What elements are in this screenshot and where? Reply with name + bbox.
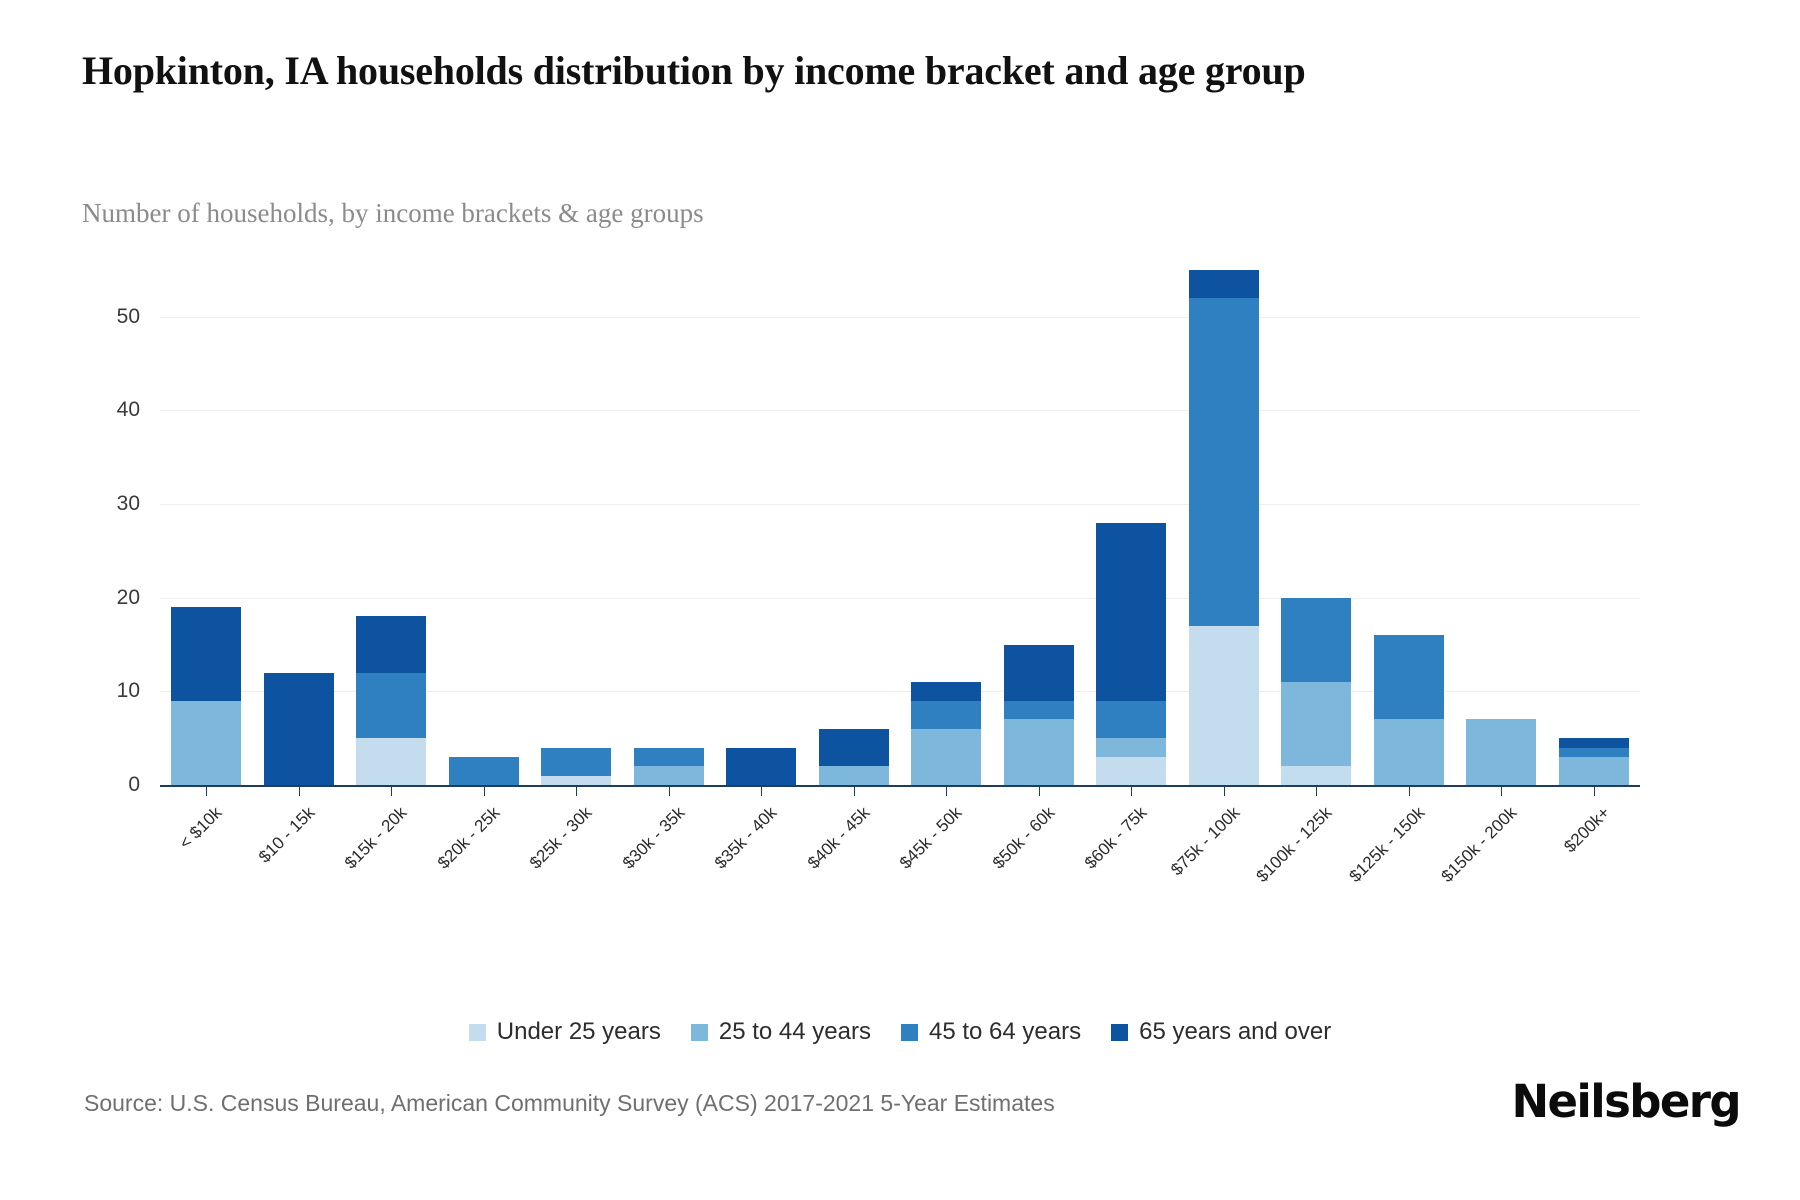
bar-segment[interactable] xyxy=(356,616,426,672)
x-tick-mark xyxy=(761,787,762,796)
x-tick-label: $25k - 30k xyxy=(526,803,596,873)
legend-item[interactable]: 45 to 64 years xyxy=(901,1018,1081,1046)
y-tick-label: 40 xyxy=(117,398,140,422)
bar-segment[interactable] xyxy=(449,757,519,785)
bar-segment[interactable] xyxy=(1374,635,1444,719)
legend-label: 25 to 44 years xyxy=(719,1018,871,1046)
x-axis-ticks xyxy=(160,787,1640,797)
bar-segment[interactable] xyxy=(264,673,334,785)
bar-segment[interactable] xyxy=(819,729,889,766)
bar-group[interactable] xyxy=(1466,270,1536,785)
bar-group[interactable] xyxy=(634,270,704,785)
bar-group[interactable] xyxy=(1096,270,1166,785)
bar-segment[interactable] xyxy=(541,748,611,776)
x-tick-label: $40k - 45k xyxy=(804,803,874,873)
y-tick-label: 20 xyxy=(117,586,140,610)
bar-group[interactable] xyxy=(911,270,981,785)
bar-group[interactable] xyxy=(1559,270,1629,785)
legend-label: Under 25 years xyxy=(497,1018,661,1046)
bar-segment[interactable] xyxy=(356,738,426,785)
bar-segment[interactable] xyxy=(1559,738,1629,747)
legend-item[interactable]: 65 years and over xyxy=(1111,1018,1331,1046)
bar-group[interactable] xyxy=(449,270,519,785)
bar-segment[interactable] xyxy=(1466,719,1536,785)
y-axis-labels: 01020304050 xyxy=(90,270,140,785)
bar-group[interactable] xyxy=(171,270,241,785)
y-tick-label: 10 xyxy=(117,679,140,703)
chart-legend: Under 25 years25 to 44 years45 to 64 yea… xyxy=(0,1018,1800,1046)
bar-segment[interactable] xyxy=(356,673,426,739)
x-tick-mark xyxy=(1316,787,1317,796)
bar-segment[interactable] xyxy=(911,729,981,785)
bar-group[interactable] xyxy=(1189,270,1259,785)
x-tick-label: < $10k xyxy=(176,803,227,854)
x-tick-label: $10 - 15k xyxy=(255,803,319,867)
bar-series-container xyxy=(160,270,1640,785)
bar-segment[interactable] xyxy=(171,701,241,785)
y-tick-label: 50 xyxy=(117,305,140,329)
plot-area xyxy=(160,270,1640,785)
x-tick-mark xyxy=(576,787,577,796)
bar-segment[interactable] xyxy=(1374,719,1444,785)
bar-segment[interactable] xyxy=(1189,270,1259,298)
x-tick-mark xyxy=(391,787,392,796)
bar-group[interactable] xyxy=(1281,270,1351,785)
bar-segment[interactable] xyxy=(1096,757,1166,785)
bar-segment[interactable] xyxy=(1004,645,1074,701)
page-title: Hopkinton, IA households distribution by… xyxy=(82,48,1642,94)
bar-segment[interactable] xyxy=(1559,757,1629,785)
bar-group[interactable] xyxy=(541,270,611,785)
legend-swatch-icon xyxy=(469,1024,486,1041)
legend-label: 45 to 64 years xyxy=(929,1018,1081,1046)
bar-segment[interactable] xyxy=(634,748,704,767)
bar-segment[interactable] xyxy=(1281,682,1351,766)
x-tick-label: $100k - 125k xyxy=(1253,803,1337,887)
bar-segment[interactable] xyxy=(1189,626,1259,785)
legend-swatch-icon xyxy=(1111,1024,1128,1041)
bar-segment[interactable] xyxy=(1281,598,1351,682)
x-tick-mark xyxy=(1501,787,1502,796)
x-tick-mark xyxy=(1224,787,1225,796)
bar-segment[interactable] xyxy=(1096,738,1166,757)
x-tick-mark xyxy=(669,787,670,796)
x-tick-mark xyxy=(1131,787,1132,796)
legend-label: 65 years and over xyxy=(1139,1018,1331,1046)
x-tick-label: $30k - 35k xyxy=(619,803,689,873)
bar-segment[interactable] xyxy=(1189,298,1259,626)
x-tick-label: $50k - 60k xyxy=(989,803,1059,873)
x-tick-label: $45k - 50k xyxy=(896,803,966,873)
bar-segment[interactable] xyxy=(1096,701,1166,738)
x-tick-mark xyxy=(1594,787,1595,796)
legend-swatch-icon xyxy=(901,1024,918,1041)
bar-group[interactable] xyxy=(1004,270,1074,785)
x-tick-label: $60k - 75k xyxy=(1081,803,1151,873)
bar-segment[interactable] xyxy=(1096,523,1166,701)
legend-swatch-icon xyxy=(691,1024,708,1041)
bar-segment[interactable] xyxy=(634,766,704,785)
bar-segment[interactable] xyxy=(541,776,611,785)
y-tick-label: 0 xyxy=(128,773,140,797)
bar-segment[interactable] xyxy=(726,748,796,785)
x-tick-label: $20k - 25k xyxy=(434,803,504,873)
x-tick-mark xyxy=(206,787,207,796)
bar-segment[interactable] xyxy=(1281,766,1351,785)
x-tick-mark xyxy=(1039,787,1040,796)
bar-group[interactable] xyxy=(1374,270,1444,785)
x-tick-label: $75k - 100k xyxy=(1167,803,1244,880)
x-tick-mark xyxy=(484,787,485,796)
x-axis-labels: < $10k$10 - 15k$15k - 20k$20k - 25k$25k … xyxy=(160,797,1640,917)
bar-segment[interactable] xyxy=(171,607,241,701)
x-tick-label: $150k - 200k xyxy=(1438,803,1522,887)
bar-group[interactable] xyxy=(726,270,796,785)
x-tick-mark xyxy=(854,787,855,796)
bar-segment[interactable] xyxy=(1004,701,1074,720)
bar-segment[interactable] xyxy=(1004,719,1074,785)
brand-logo: Neilsberg xyxy=(1511,1075,1740,1128)
x-tick-mark xyxy=(946,787,947,796)
source-note: Source: U.S. Census Bureau, American Com… xyxy=(84,1090,1055,1117)
legend-item[interactable]: Under 25 years xyxy=(469,1018,661,1046)
legend-item[interactable]: 25 to 44 years xyxy=(691,1018,871,1046)
bar-segment[interactable] xyxy=(819,766,889,785)
x-tick-label: $15k - 20k xyxy=(341,803,411,873)
bar-segment[interactable] xyxy=(911,701,981,729)
x-tick-label: $35k - 40k xyxy=(711,803,781,873)
bar-segment[interactable] xyxy=(1559,748,1629,757)
bar-group[interactable] xyxy=(264,270,334,785)
y-tick-label: 30 xyxy=(117,492,140,516)
x-tick-label: $125k - 150k xyxy=(1345,803,1429,887)
x-tick-mark xyxy=(1409,787,1410,796)
bar-segment[interactable] xyxy=(911,682,981,701)
x-tick-mark xyxy=(299,787,300,796)
bar-group[interactable] xyxy=(819,270,889,785)
x-tick-label: $200k+ xyxy=(1560,803,1614,857)
chart-subtitle: Number of households, by income brackets… xyxy=(82,198,1482,229)
bar-group[interactable] xyxy=(356,270,426,785)
